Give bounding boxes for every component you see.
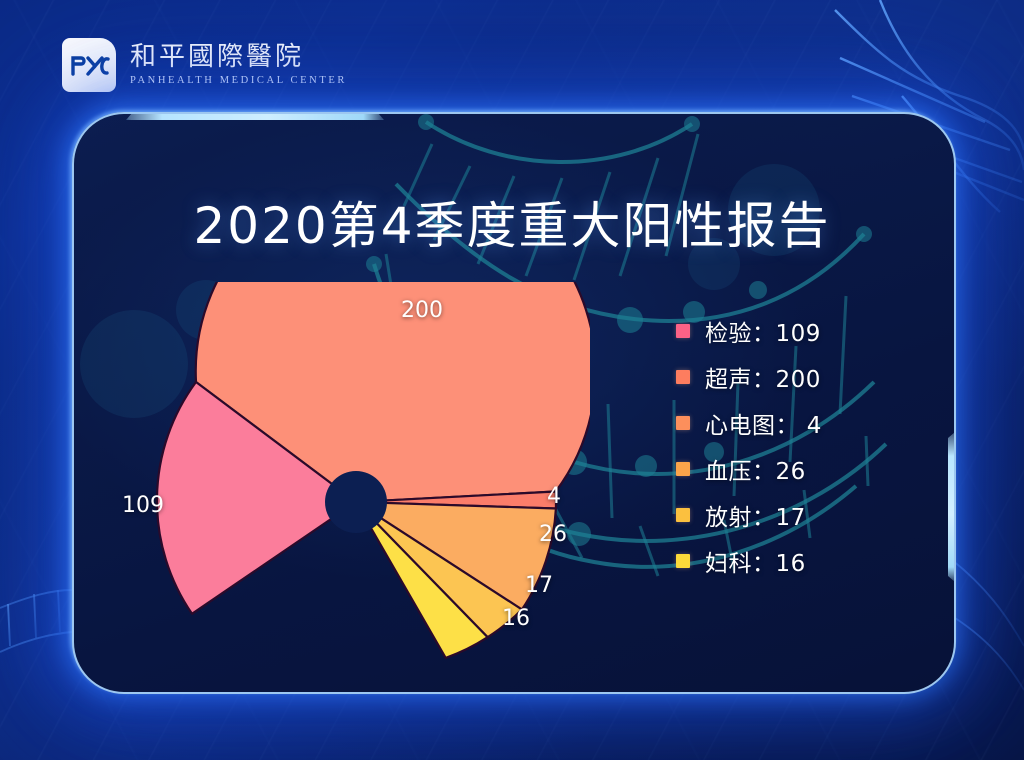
pie-value-label-jianyan: 109 <box>122 493 164 518</box>
pie-chart: 200 109 4 26 17 16 <box>120 282 590 662</box>
dna-helix-outer-left-icon <box>0 590 72 652</box>
legend-swatch-fangshe <box>676 508 690 522</box>
brand-logo: 和平國際醫院 PANHEALTH MEDICAL CENTER <box>62 38 347 92</box>
legend-swatch-chaosheng <box>676 370 690 384</box>
pie-value-label-xindiantu: 4 <box>547 484 561 509</box>
brand-name-cn: 和平國際醫院 <box>130 44 347 70</box>
pie-value-label-xueya: 26 <box>539 522 567 547</box>
legend-swatch-xindiantu <box>676 416 690 430</box>
brand-name-en: PANHEALTH MEDICAL CENTER <box>130 76 347 87</box>
legend-label-jianyan: 检验：109 <box>705 314 821 348</box>
legend-item-fuke[interactable]: 妇科：16 <box>676 538 916 584</box>
chart-legend: 检验：109 超声：200 心电图： 4 血压：26 放射：17 妇科：16 <box>676 308 916 584</box>
dna-helix-outer-bottom-icon <box>952 560 1024 690</box>
frame-accent-top <box>126 114 384 120</box>
pie-value-label-fuke: 16 <box>502 606 530 631</box>
legend-label-fangshe: 放射：17 <box>705 498 806 532</box>
legend-item-xindiantu[interactable]: 心电图： 4 <box>676 400 916 446</box>
legend-item-xueya[interactable]: 血压：26 <box>676 446 916 492</box>
slide-canvas: 和平國際醫院 PANHEALTH MEDICAL CENTER <box>0 0 1024 760</box>
legend-item-fangshe[interactable]: 放射：17 <box>676 492 916 538</box>
legend-swatch-fuke <box>676 554 690 568</box>
frame-accent-right <box>948 432 954 582</box>
page-title: 2020第4季度重大阳性报告 <box>0 186 1024 258</box>
pmc-monogram-icon <box>62 38 116 92</box>
donut-hole <box>325 471 387 533</box>
pie-slices <box>157 282 590 658</box>
legend-swatch-xueya <box>676 462 690 476</box>
pie-chart-svg <box>120 282 590 662</box>
legend-swatch-jianyan <box>676 324 690 338</box>
legend-label-fuke: 妇科：16 <box>705 544 806 578</box>
pie-value-label-chaosheng: 200 <box>401 298 443 323</box>
legend-label-chaosheng: 超声：200 <box>705 360 821 394</box>
legend-label-xueya: 血压：26 <box>705 452 806 486</box>
legend-item-jianyan[interactable]: 检验：109 <box>676 308 916 354</box>
pie-value-label-fangshe: 17 <box>525 573 553 598</box>
legend-item-chaosheng[interactable]: 超声：200 <box>676 354 916 400</box>
legend-label-xindiantu: 心电图： 4 <box>705 406 822 440</box>
